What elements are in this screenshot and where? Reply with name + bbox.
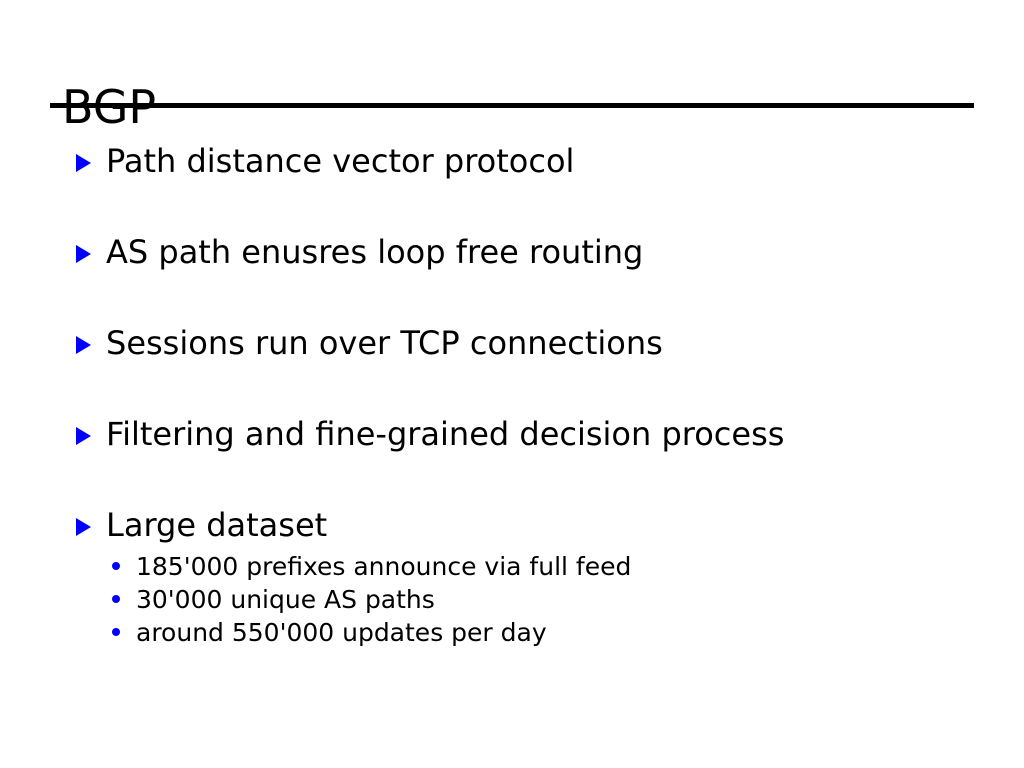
triangle-right-bullet-icon	[76, 336, 91, 354]
sub-bullet-list: 185'000 prefixes announce via full feed …	[106, 550, 1024, 649]
sub-list-item: around 550'000 updates per day	[106, 616, 1024, 649]
bullet-list: Path distance vector protocol AS path en…	[0, 140, 1024, 649]
bullet-label: Sessions run over TCP connections	[106, 322, 1024, 364]
dot-bullet-icon	[112, 562, 120, 570]
triangle-right-bullet-icon	[76, 154, 91, 172]
list-item: Sessions run over TCP connections	[0, 322, 1024, 368]
list-item: Filtering and fine-grained decision proc…	[0, 413, 1024, 459]
sub-bullet-label: 185'000 prefixes announce via full feed	[136, 550, 1024, 583]
bullet-label: Path distance vector protocol	[106, 140, 1024, 182]
title-divider	[50, 103, 974, 108]
sub-list-item: 185'000 prefixes announce via full feed	[106, 550, 1024, 583]
sub-list-item: 30'000 unique AS paths	[106, 583, 1024, 616]
dot-bullet-icon	[112, 595, 120, 603]
sub-bullet-label: 30'000 unique AS paths	[136, 583, 1024, 616]
triangle-right-bullet-icon	[76, 427, 91, 445]
bullet-label: Large dataset	[106, 504, 1024, 546]
triangle-right-bullet-icon	[76, 518, 91, 536]
presentation-slide: BGP Path distance vector protocol AS pat…	[0, 0, 1024, 768]
triangle-right-bullet-icon	[76, 245, 91, 263]
bullet-label: Filtering and fine-grained decision proc…	[106, 413, 1024, 455]
list-item: Path distance vector protocol	[0, 140, 1024, 186]
list-item: Large dataset 185'000 prefixes announce …	[0, 504, 1024, 649]
list-item: AS path enusres loop free routing	[0, 231, 1024, 277]
sub-bullet-label: around 550'000 updates per day	[136, 616, 1024, 649]
bullet-label: AS path enusres loop free routing	[106, 231, 1024, 273]
dot-bullet-icon	[112, 628, 120, 636]
